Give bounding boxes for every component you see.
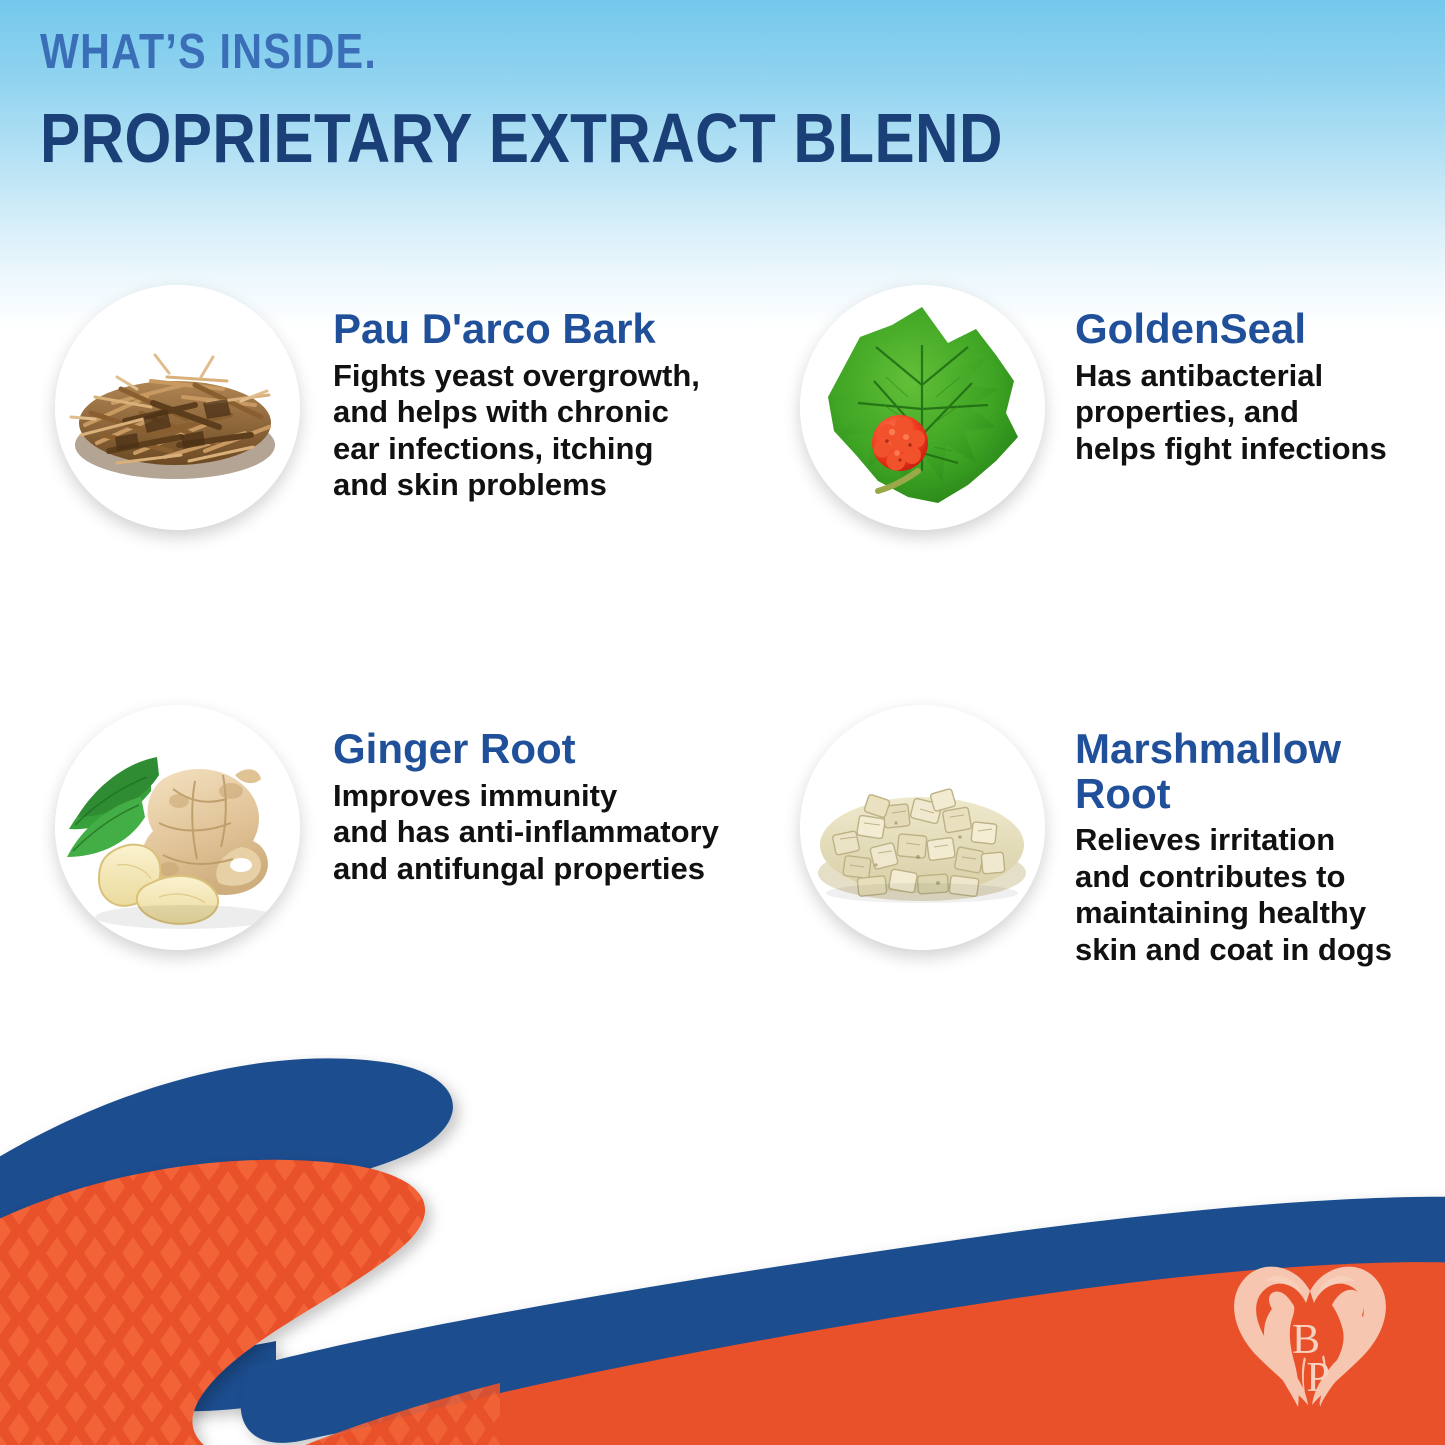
ingredient-card-pau-darco-bark: Pau D'arco Bark Fights yeast overgrowth,… [55,285,755,530]
ingredient-grid: Pau D'arco Bark Fights yeast overgrowth,… [0,285,1445,1125]
infographic-poster: WHAT’S INSIDE. PROPRIETARY EXTRACT BLEND [0,0,1445,1445]
goldenseal-leaf-illustration [800,285,1045,530]
marshmallow-root-photo [800,705,1045,950]
berry-cluster [872,415,928,471]
pau-darco-bark-photo [55,285,300,530]
ingredient-description: Improves immunity and has anti-inflammat… [333,778,719,888]
ingredient-text-block: Ginger Root Improves immunity and has an… [300,705,719,887]
logo-svg: B P [1220,1249,1400,1417]
ingredient-text-block: GoldenSeal Has antibacterial properties,… [1045,285,1387,467]
ingredient-name: GoldenSeal [1075,307,1387,352]
ingredient-text-block: Marshmallow Root Relieves irritation and… [1045,705,1392,968]
ingredient-description: Has antibacterial properties, and helps … [1075,358,1387,468]
ingredient-name: Marshmallow Root [1075,727,1392,816]
eyebrow-text: WHAT’S INSIDE. [40,28,1048,77]
brand-heart-cat-dog-logo: B P [1220,1249,1400,1417]
goldenseal-leaf-photo [800,285,1045,530]
ingredient-name: Pau D'arco Bark [333,307,700,352]
ingredient-row-1: Pau D'arco Bark Fights yeast overgrowth,… [0,285,1445,705]
pau-darco-bark-illustration [55,285,300,530]
ingredient-description: Relieves irritation and contributes to m… [1075,822,1392,968]
ingredient-description: Fights yeast overgrowth, and helps with … [333,358,700,504]
ginger-root-illustration [55,705,300,950]
header-block: WHAT’S INSIDE. PROPRIETARY EXTRACT BLEND [40,28,1240,173]
page-title: PROPRIETARY EXTRACT BLEND [40,103,1072,173]
marshmallow-root-illustration [800,705,1045,950]
ingredient-card-marshmallow-root: Marshmallow Root Relieves irritation and… [800,705,1420,968]
ginger-root-photo [55,705,300,950]
ingredient-name: Ginger Root [333,727,719,772]
ingredient-card-ginger-root: Ginger Root Improves immunity and has an… [55,705,755,950]
ingredient-text-block: Pau D'arco Bark Fights yeast overgrowth,… [300,285,700,504]
ingredient-card-goldenseal: GoldenSeal Has antibacterial properties,… [800,285,1420,530]
logo-monogram-bottom: P [1306,1355,1329,1401]
